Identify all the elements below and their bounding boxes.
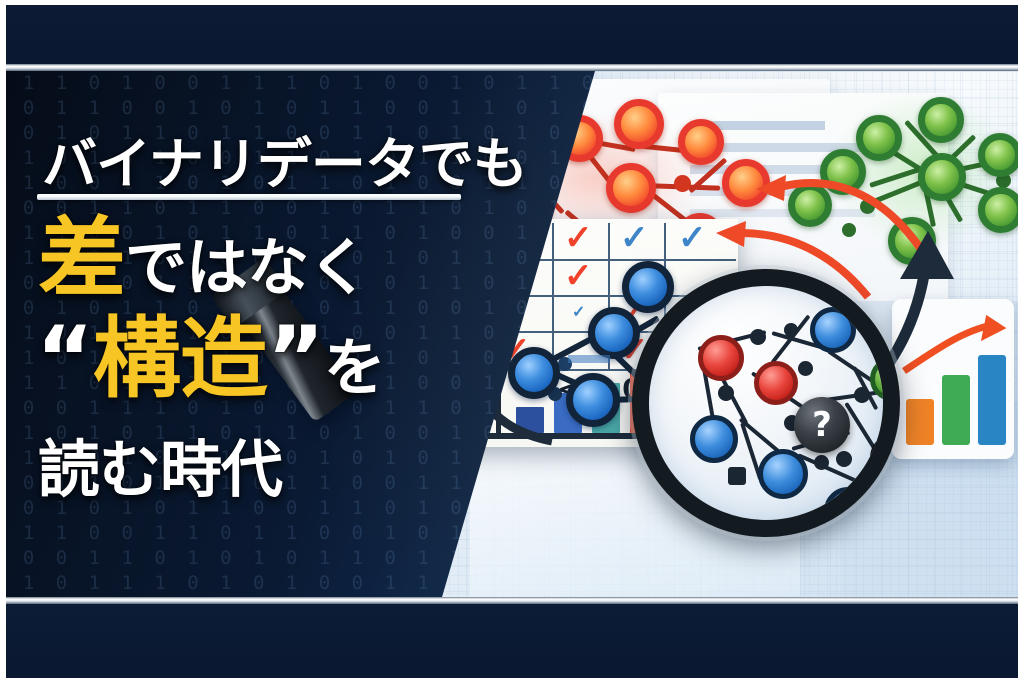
check-icon: ✓: [620, 221, 649, 255]
headline-line-2-rest: ではなく: [125, 231, 369, 304]
magnifier-lens: ?: [632, 269, 900, 537]
headline-line-1: バイナリデータでも: [42, 119, 527, 199]
headline-line-4: 読む時代: [38, 419, 282, 509]
magnifier[interactable]: ?: [632, 269, 900, 537]
headline-underline: [37, 194, 461, 200]
bottom-divider-line: [0, 597, 1024, 604]
check-icon: ✓: [502, 221, 531, 255]
quote-open: “: [36, 307, 93, 410]
lens-node-red: [698, 335, 744, 381]
headline-line-3: “構造”を: [36, 317, 385, 407]
bar: [978, 355, 1006, 445]
lens-node-blue: [690, 415, 738, 463]
headline-line-2: 差ではなく: [38, 217, 369, 307]
headline-line-3-rest: を: [324, 331, 385, 404]
lens-node-blue: [758, 449, 808, 499]
headline-accent-sa: 差: [38, 207, 125, 310]
check-icon: ✓: [502, 259, 531, 293]
check-icon: ✓: [564, 221, 593, 255]
headline-accent-kouzou: 構造: [93, 307, 267, 410]
curved-arrow-icon: [458, 309, 578, 449]
lens-node-dark: [870, 433, 900, 483]
lens-node-blue: [810, 307, 856, 353]
headline-block: バイナリデータでも 差ではなく “構造”を 読む時代: [0, 71, 470, 604]
lens-network: ?: [632, 269, 900, 537]
content-area: ✓ ✓ ✓ ✓ ✓ ✓ ✓ ✓ ✓ ✓ ✓ ✓ ✓ P < 0.05: [0, 71, 1024, 604]
lens-node-blue: [824, 487, 872, 535]
lens-node-red: [754, 361, 798, 405]
check-icon: ✓: [564, 259, 593, 293]
bottom-band: [0, 604, 1024, 683]
top-band: [0, 0, 1024, 71]
quote-close: ”: [267, 307, 324, 410]
top-divider-line: [0, 64, 1024, 71]
slide-canvas: ✓ ✓ ✓ ✓ ✓ ✓ ✓ ✓ ✓ ✓ ✓ ✓ ✓ P < 0.05: [0, 0, 1024, 683]
question-node: ?: [794, 397, 850, 453]
